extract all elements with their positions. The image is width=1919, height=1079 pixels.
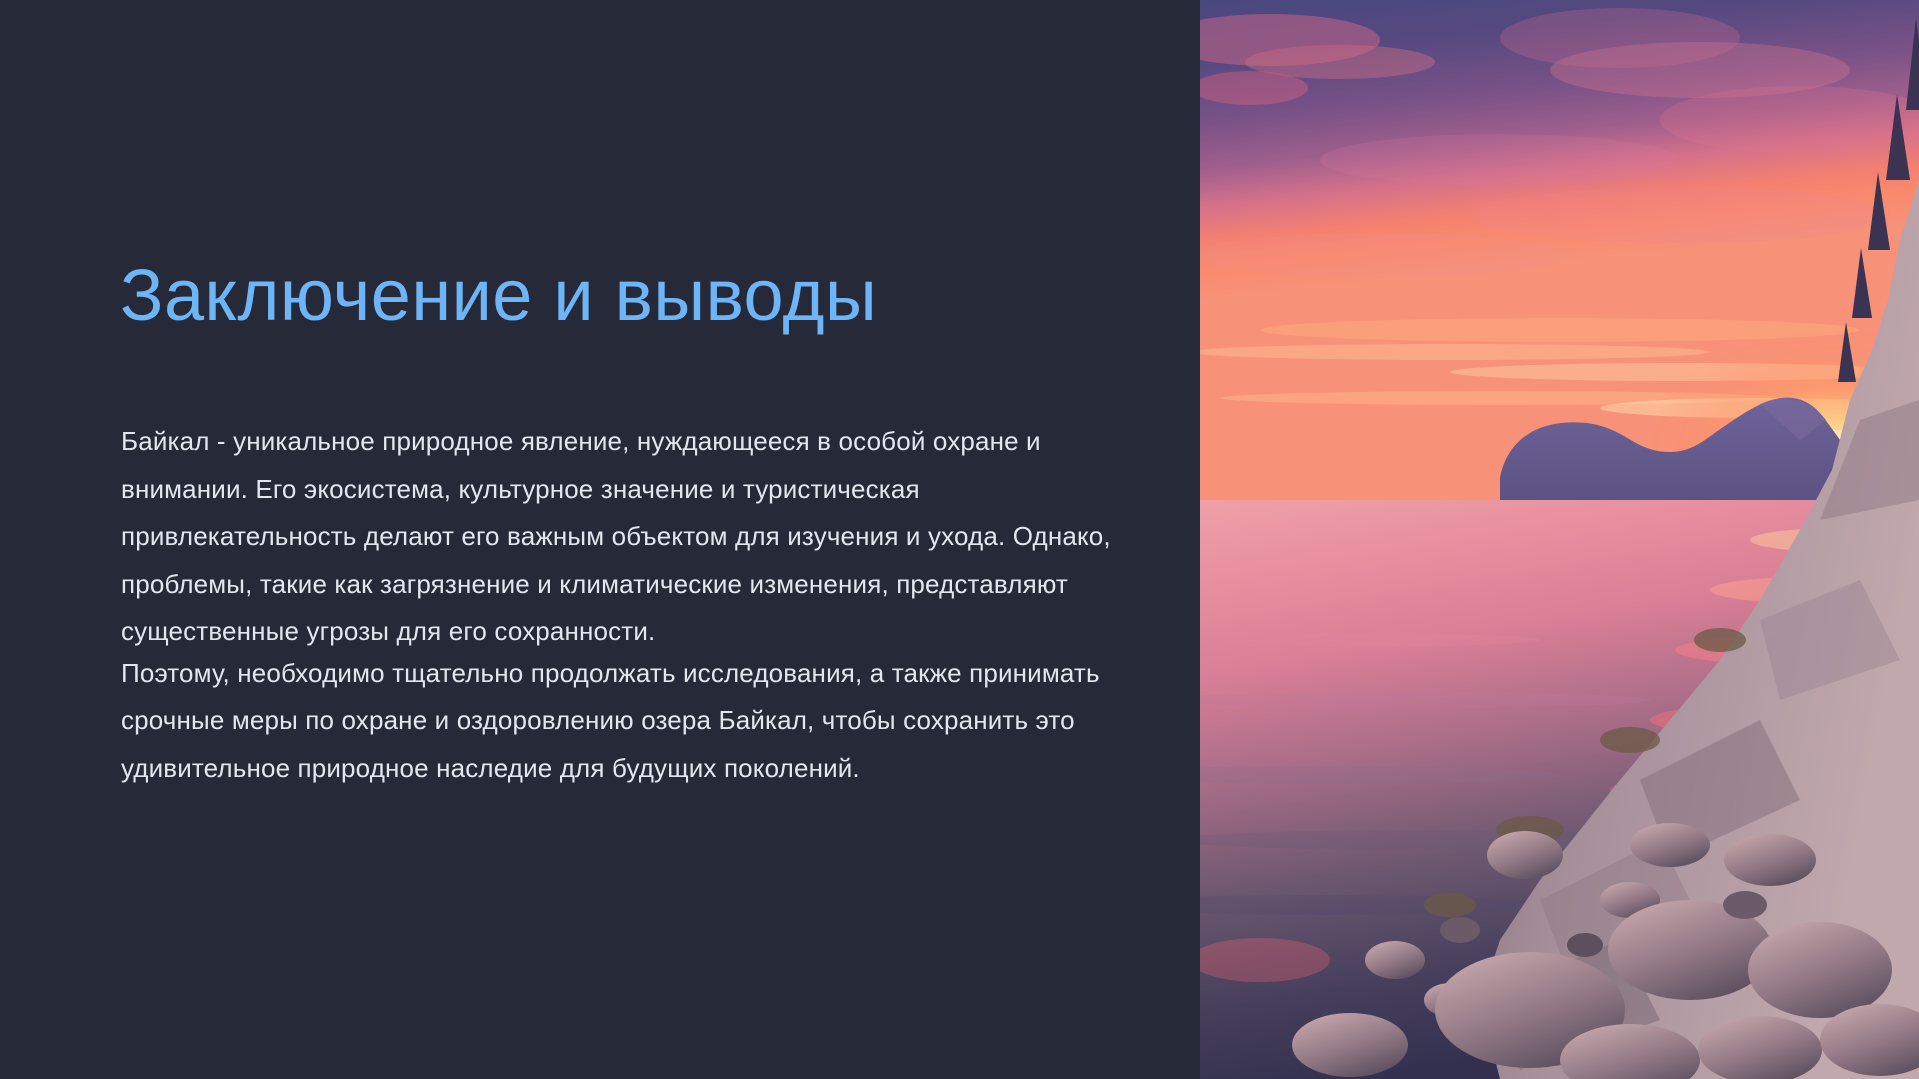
presentation-slide: Заключение и выводы Байкал - уникальное … [0,0,1919,1079]
page-title: Заключение и выводы [120,258,877,336]
body-paragraph-2: Поэтому, необходимо тщательно продолжать… [121,650,1121,793]
sunset-illustration [1200,0,1919,1079]
body-paragraph-1: Байкал - уникальное природное явление, н… [121,418,1121,656]
text-panel: Заключение и выводы Байкал - уникальное … [0,0,1200,1079]
body-text-block: Байкал - уникальное природное явление, н… [121,418,1121,792]
baikal-sunset-photo [1200,0,1919,1079]
